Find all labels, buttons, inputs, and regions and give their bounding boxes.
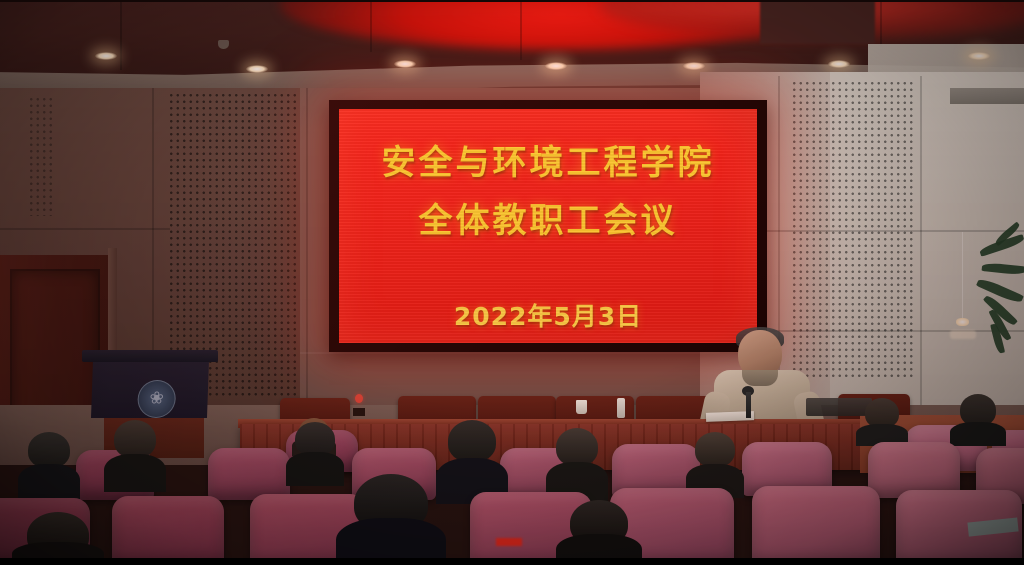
water-bottle <box>617 398 625 418</box>
university-emblem-icon: ❀ <box>137 380 176 418</box>
ceiling-downlight-icon <box>394 60 416 68</box>
wall-seam <box>306 88 308 406</box>
screen-title-line2: 全体教职工会议 <box>339 193 757 242</box>
ceiling-downlight-icon <box>828 60 850 68</box>
screen-date: 2022年5月3日 <box>339 297 757 333</box>
ceiling-dark-block <box>760 0 875 44</box>
led-screen-bezel: 安全与环境工程学院 全体教职工会议 2022年5月3日 <box>329 100 767 352</box>
screen-title-line1: 安全与环境工程学院 <box>339 135 757 184</box>
audience-member <box>18 432 80 502</box>
speaker-collar <box>742 370 778 386</box>
audience-member <box>104 420 166 492</box>
paper-cup <box>576 400 587 414</box>
ceiling-downlight-icon <box>545 62 567 70</box>
wall-seam-highlight <box>300 352 720 354</box>
audience-member <box>950 394 1006 446</box>
wall-seam <box>0 228 170 230</box>
ceiling-sprinkler-icon <box>218 40 229 49</box>
wall-seam <box>920 76 922 416</box>
conference-room-photo: 安全与环境工程学院 全体教职工会议 2022年5月3日 ❀ <box>0 0 1024 565</box>
plant-icon <box>952 240 1024 370</box>
audience-seat <box>208 448 290 500</box>
top-letterbox-bar <box>0 0 1024 2</box>
bottom-letterbox-bar <box>0 558 1024 565</box>
lectern-top <box>82 350 218 362</box>
ceiling-seam <box>520 0 522 60</box>
ceiling-seam <box>880 0 882 46</box>
audience-member <box>336 474 446 565</box>
lectern-body: ❀ <box>91 360 209 418</box>
audience-seat <box>112 496 224 565</box>
led-screen: 安全与环境工程学院 全体教职工会议 2022年5月3日 <box>339 109 757 343</box>
ceiling-seam <box>370 0 372 52</box>
perforated-acoustic-panel-far-left <box>28 96 56 216</box>
emblem-glyph: ❀ <box>149 391 164 408</box>
red-indicator-light <box>496 538 522 546</box>
audience-member <box>856 398 908 446</box>
audience-member <box>546 428 608 502</box>
ceiling-downlight-icon <box>246 65 268 73</box>
audience-member <box>556 500 642 565</box>
flower-arrangement <box>352 394 366 416</box>
ceiling-downlight-icon <box>968 52 990 60</box>
ceiling-downlight-icon <box>683 62 705 70</box>
air-vent <box>950 88 1024 104</box>
ceiling-downlight-icon <box>95 52 117 60</box>
microphone-stem <box>746 392 751 418</box>
audience-seat <box>752 486 880 565</box>
ceiling-seam <box>120 0 122 70</box>
